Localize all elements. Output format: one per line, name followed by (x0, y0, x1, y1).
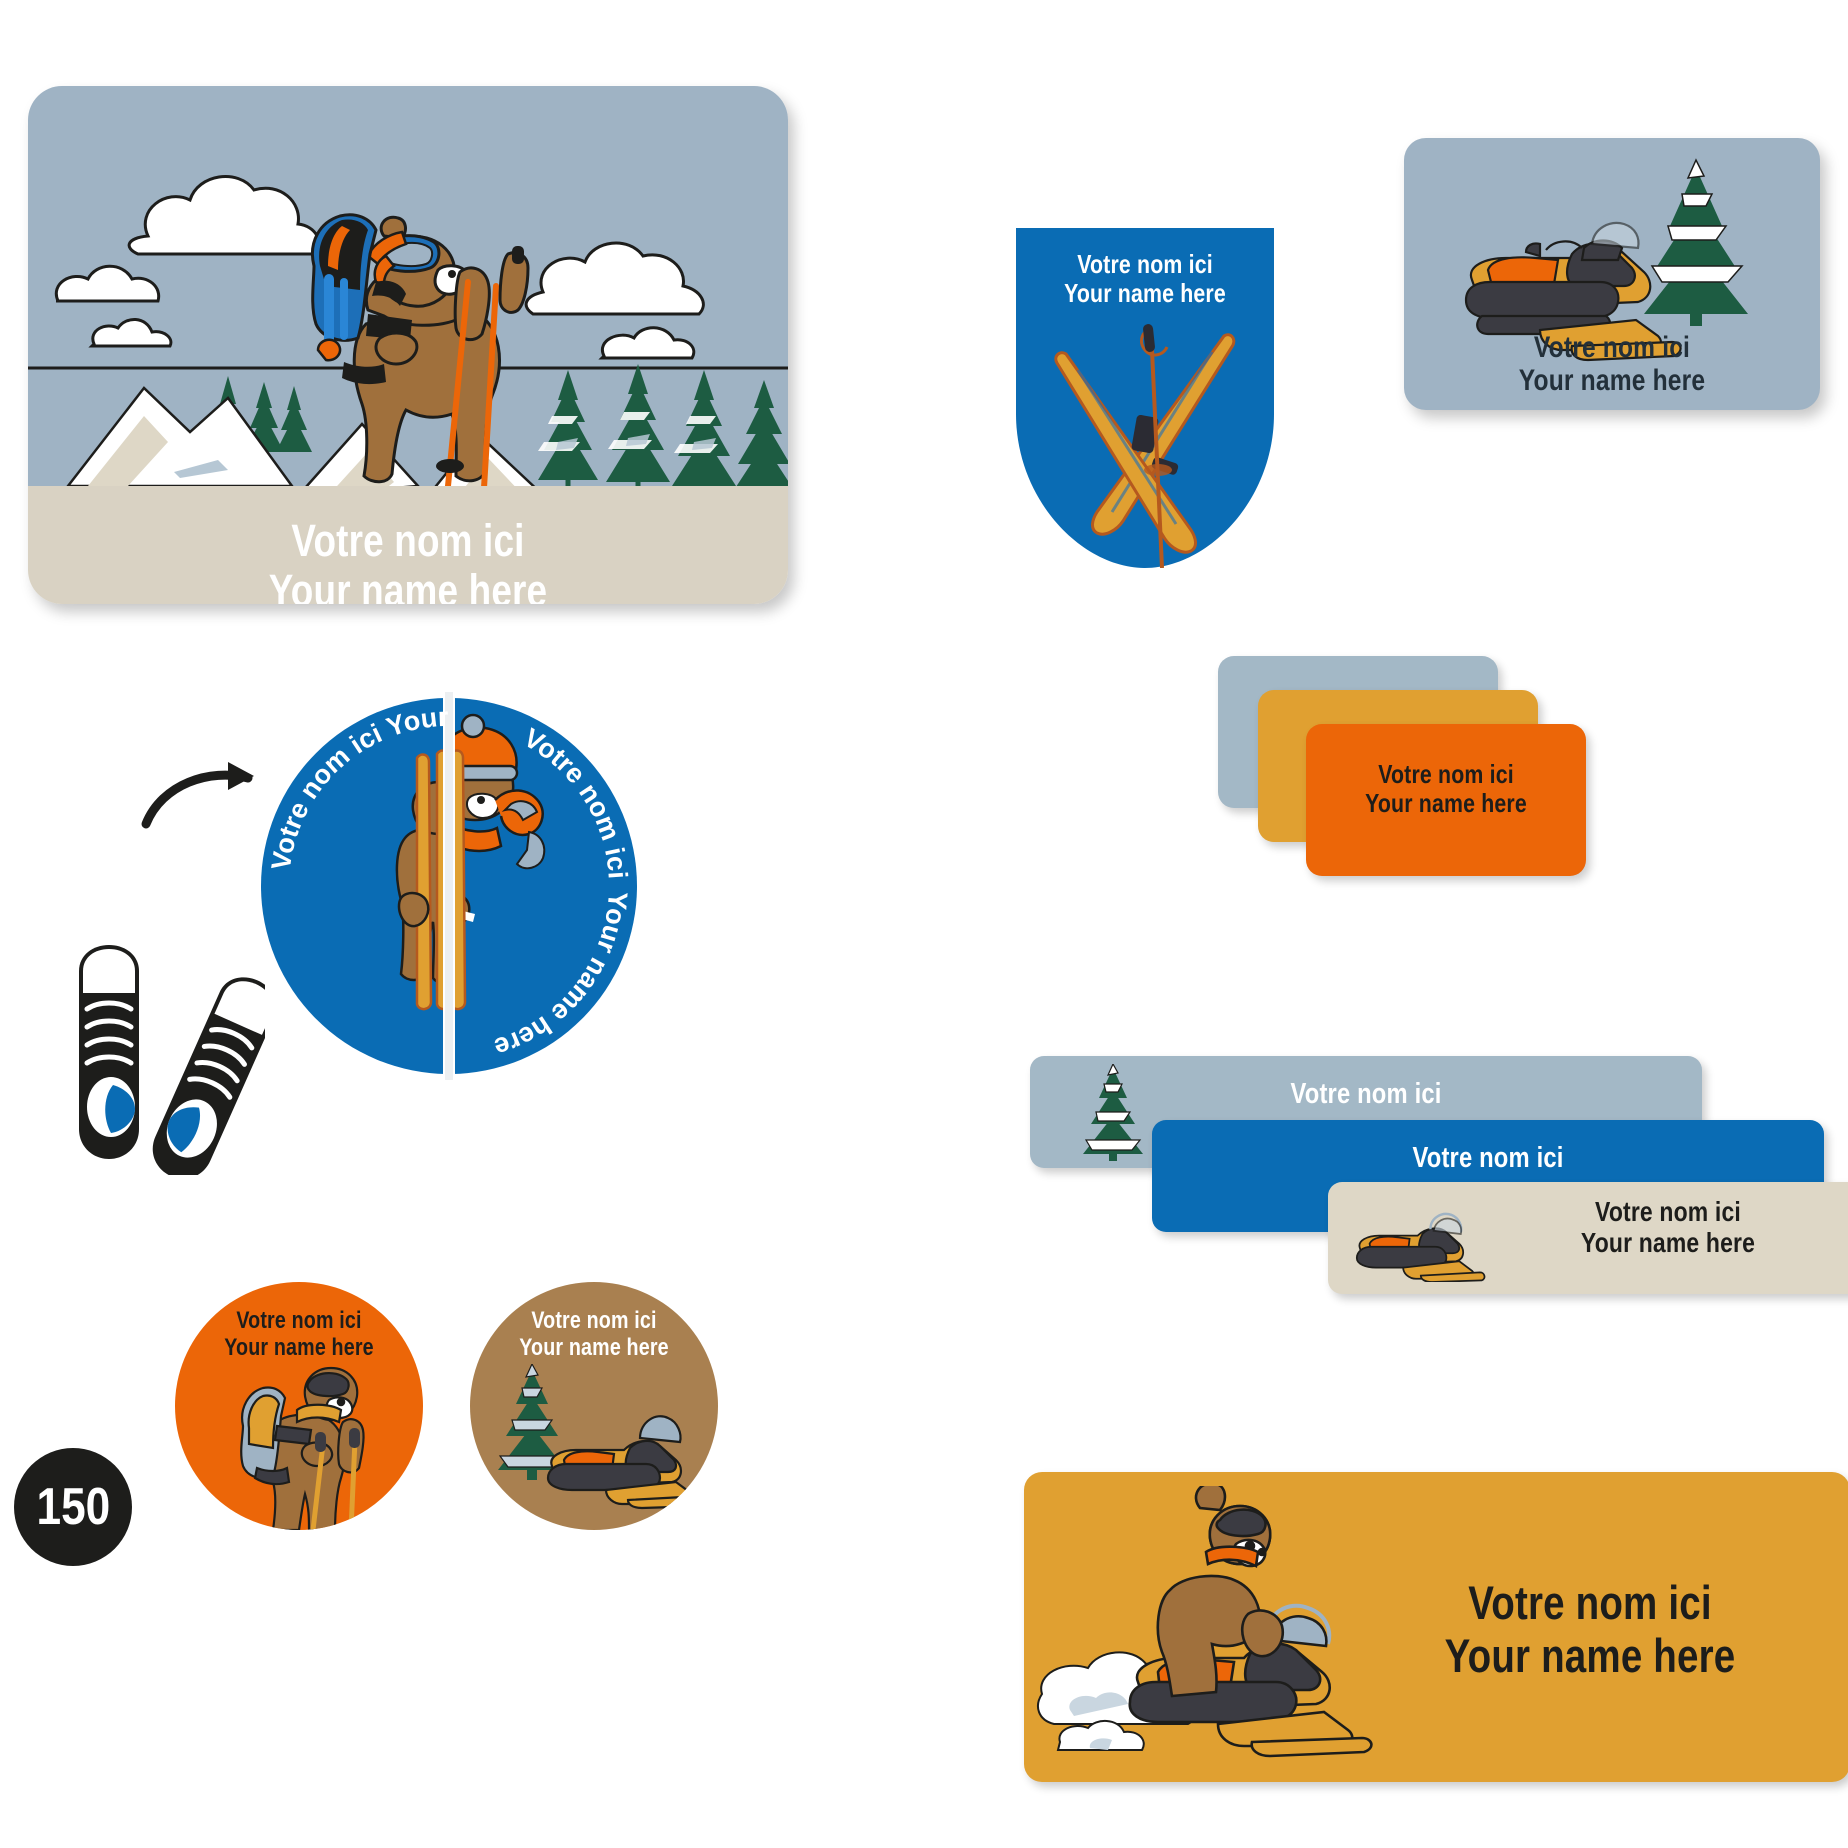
catalog-page: Votre nom ici Your name here (0, 0, 1848, 1848)
strip-blue-text: Votre nom ici (1212, 1142, 1763, 1174)
circ-brown-line-fr: Votre nom ici (492, 1308, 695, 1335)
hero-label-text: Votre nom ici Your name here (28, 516, 788, 604)
round-sticker-brown-text: Votre nom ici Your name here (470, 1308, 718, 1362)
strip-beige-line-fr: Votre nom ici (1545, 1196, 1791, 1227)
bear-hiker-rectangle-label[interactable]: Votre nom ici Your name here (28, 86, 788, 604)
banner-line-en: Your name here (1426, 1630, 1754, 1683)
shield-line-fr: Votre nom ici (1039, 250, 1251, 279)
snowcard-line-fr: Votre nom ici (1441, 331, 1782, 365)
round-sticker-orange-text: Votre nom ici Your name here (175, 1308, 423, 1362)
snowcard-line-en: Your name here (1441, 364, 1782, 398)
shield-line-en: Your name here (1039, 279, 1251, 308)
bear-on-snowmobile-banner-label[interactable]: Votre nom ici Your name here (1024, 1472, 1848, 1782)
bear-with-skis-round-sticker[interactable]: Votre nom ici Your name here Votre nom i… (255, 692, 643, 1080)
shield-label-text: Votre nom ici Your name here (1016, 250, 1274, 308)
circ-brown-line-en: Your name here (492, 1335, 695, 1362)
round-sticker-orange[interactable]: Votre nom ici Your name here (175, 1282, 423, 1530)
bear-hiker-illustration (28, 86, 788, 496)
pair-of-shoes-icon (55, 945, 265, 1175)
strip-label-beige[interactable]: Votre nom ici Your name here (1328, 1182, 1848, 1294)
circ-orange-line-fr: Votre nom ici (197, 1308, 400, 1335)
snowcard-label-text: Votre nom ici Your name here (1404, 331, 1820, 398)
stacked-orange-line-fr: Votre nom ici (1331, 760, 1561, 789)
circ-orange-line-en: Your name here (197, 1335, 400, 1362)
page-number-value: 150 (36, 1477, 110, 1537)
strip-beige-text: Votre nom ici Your name here (1518, 1196, 1818, 1259)
banner-label-text: Votre nom ici Your name here (1390, 1577, 1790, 1682)
hero-line-en: Your name here (96, 566, 719, 604)
snowmobile-small-icon (1352, 1202, 1512, 1282)
snowmobile-tree-card-label[interactable]: Votre nom ici Your name here (1404, 138, 1820, 410)
stacked-orange-line-en: Your name here (1331, 789, 1561, 818)
round-sticker-brown[interactable]: Votre nom ici Your name here (470, 1282, 718, 1530)
page-number-badge: 150 (14, 1448, 132, 1566)
bear-hiker-small-illustration (209, 1360, 399, 1530)
snowmobile-and-pine-small-illustration (486, 1364, 706, 1530)
strip-grey-text: Votre nom ici (1090, 1078, 1641, 1110)
strip-beige-line-en: Your name here (1545, 1227, 1791, 1258)
curved-arrow-icon (140, 760, 270, 830)
banner-line-fr: Votre nom ici (1426, 1577, 1754, 1630)
stacked-card-orange[interactable]: Votre nom ici Your name here (1306, 724, 1586, 876)
stacked-card-orange-text: Votre nom ici Your name here (1306, 760, 1586, 818)
hero-line-fr: Votre nom ici (96, 516, 719, 566)
crossed-skis-shield-label[interactable]: Votre nom ici Your name here (1016, 228, 1274, 568)
